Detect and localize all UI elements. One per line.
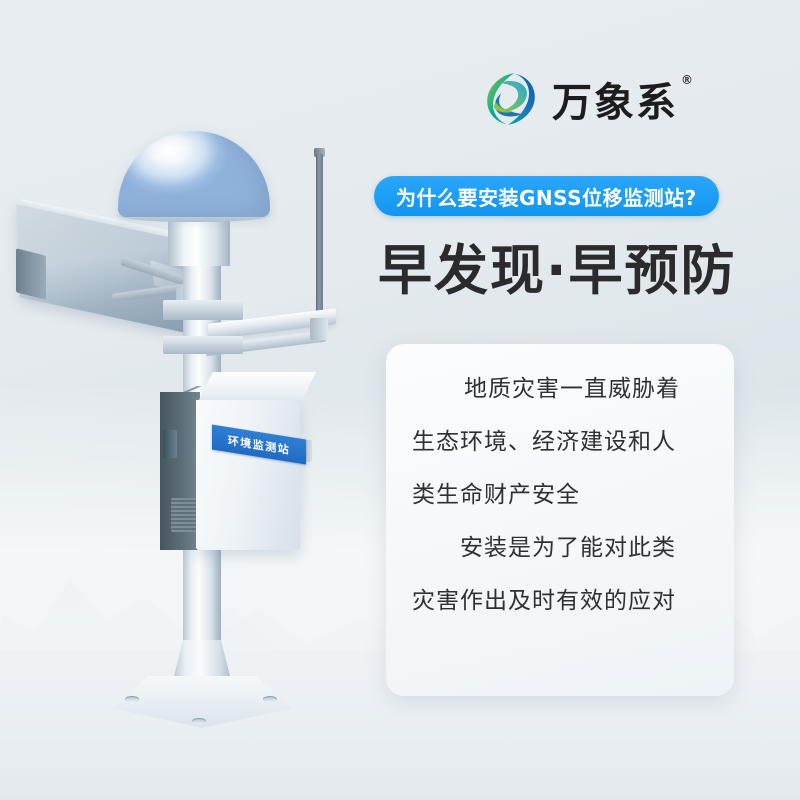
whip-antenna-clamp: [310, 318, 328, 340]
base-bolt-hole-right: [263, 696, 277, 702]
page-title: 早发现·早预防: [378, 226, 737, 305]
description-line: 灾害作出及时有效的应对: [412, 590, 708, 613]
description-line: 安装是为了能对此类: [412, 537, 708, 560]
solar-panel-edge: [16, 248, 46, 299]
globe-swirl-logo-icon: [484, 71, 538, 127]
registered-trademark-icon: ®: [681, 74, 695, 86]
description-card: 地质灾害一直威胁着 生态环境、经济建设和人 类生命财产安全 安装是为了能对此类 …: [386, 344, 734, 696]
instrument-enclosure: [196, 400, 300, 550]
brand-name: 万象系 ®: [552, 70, 695, 128]
pole-clamp-upper: [163, 300, 243, 320]
description-line: 类生命财产安全: [412, 484, 708, 507]
pole-clamp-lower: [163, 336, 243, 354]
brand-name-text: 万象系: [552, 70, 678, 128]
gnss-antenna-dome: [118, 131, 270, 217]
enclosure-hinge: [163, 430, 177, 458]
question-banner: 为什么要安装GNSS位移监测站?: [374, 176, 719, 216]
description-card-body: 地质灾害一直威胁着 生态环境、经济建设和人 类生命财产安全 安装是为了能对此类 …: [386, 344, 734, 696]
description-line: 地质灾害一直威胁着: [412, 378, 708, 401]
gnss-monitoring-station-image: 环境监测站: [0, 0, 400, 800]
enclosure-label-text: 环境监测站: [228, 432, 291, 458]
brand-logo: 万象系 ®: [484, 68, 695, 130]
poster-canvas: 环境监测站: [0, 0, 800, 800]
base-bolt-hole-left: [125, 696, 139, 702]
base-bolt-hole-front: [192, 718, 206, 724]
whip-antenna-rod: [316, 153, 323, 328]
description-line: 生态环境、经济建设和人: [412, 431, 708, 454]
question-banner-text: 为什么要安装GNSS位移监测站?: [396, 182, 697, 211]
